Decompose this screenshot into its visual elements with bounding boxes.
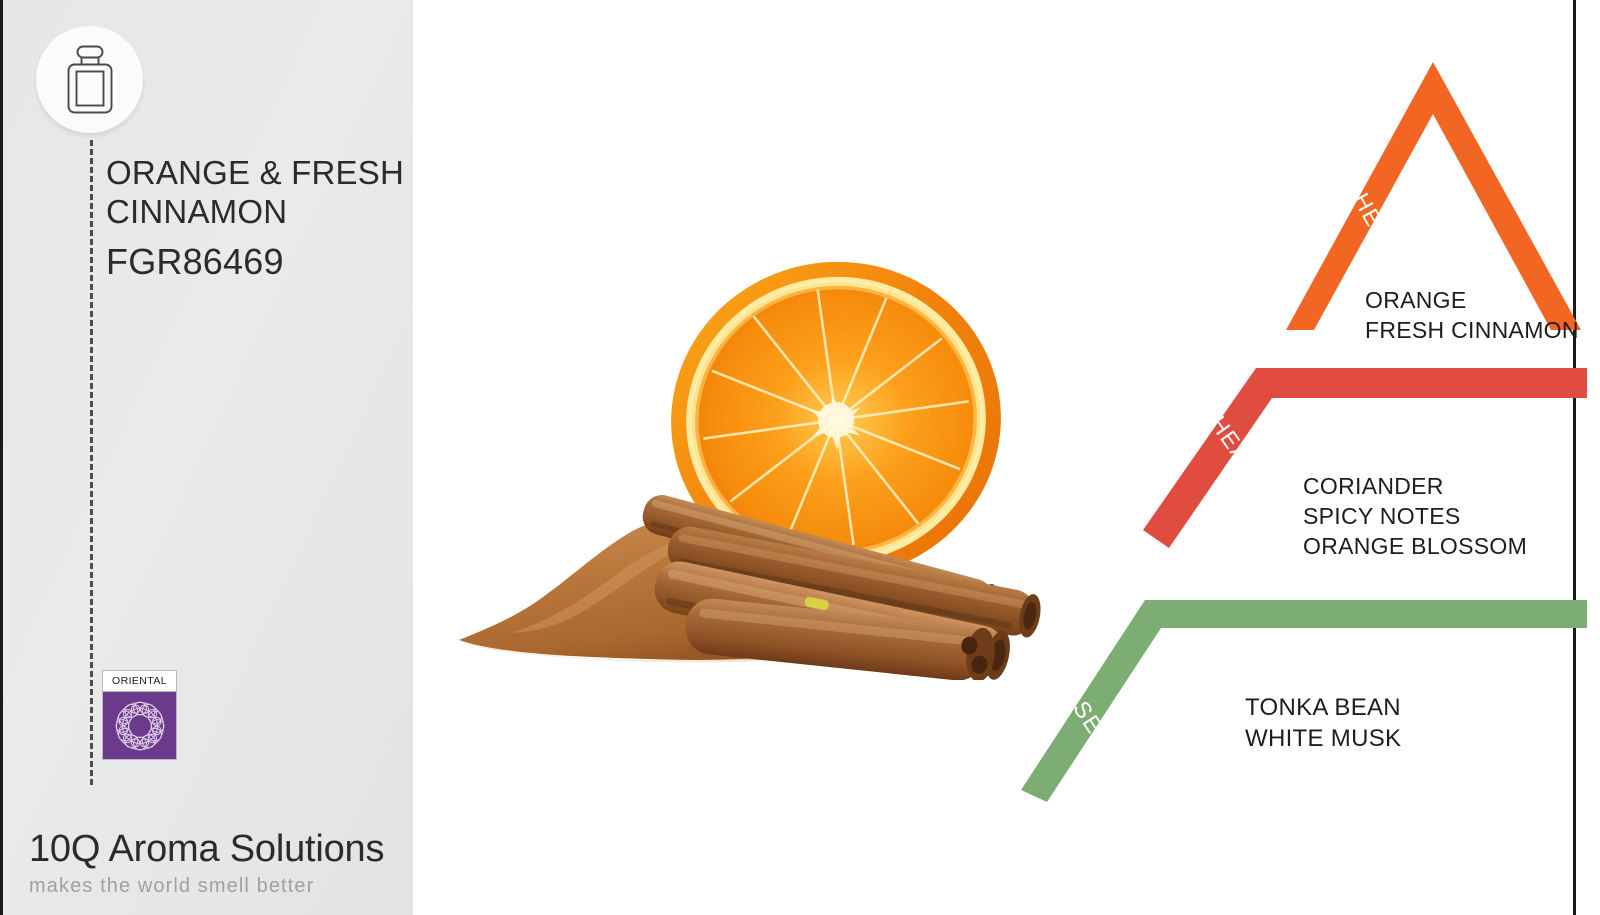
- brand-block: 10Q Aroma Solutions makes the world smel…: [29, 826, 409, 899]
- brand-tagline: makes the world smell better: [29, 873, 409, 899]
- heart-note: SPICY NOTES: [1303, 501, 1527, 531]
- base-notes-list: TONKA BEAN WHITE MUSK: [1245, 692, 1401, 754]
- heart-note: ORANGE BLOSSOM: [1303, 531, 1527, 561]
- heart-note: CORIANDER: [1303, 471, 1527, 501]
- sidebar-panel: ORANGE & FRESH CINNAMON FGR86469 ORIENTA…: [3, 0, 413, 915]
- sidebar-dashed-connector: [90, 140, 93, 785]
- fragrance-title-block: ORANGE & FRESH CINNAMON FGR86469: [106, 153, 406, 284]
- fragrance-family-badge: ORIENTAL: [102, 670, 177, 760]
- brand-name: 10Q Aroma Solutions: [29, 826, 409, 872]
- base-note: TONKA BEAN: [1245, 692, 1401, 723]
- spirograph-ring-icon: [103, 692, 176, 760]
- fragrance-code: FGR86469: [106, 240, 406, 284]
- perfume-bottle-icon: [59, 44, 121, 116]
- fragrance-title-line-2: CINNAMON: [106, 192, 406, 231]
- head-note: ORANGE: [1365, 285, 1579, 315]
- fragrance-family-label: ORIENTAL: [103, 671, 176, 692]
- perfume-bottle-badge: [36, 26, 143, 133]
- head-notes-list: ORANGE FRESH CINNAMON: [1365, 285, 1579, 345]
- product-photo: [451, 255, 1071, 680]
- fragrance-title-line-1: ORANGE & FRESH: [106, 153, 406, 192]
- base-note: WHITE MUSK: [1245, 723, 1401, 754]
- slide-canvas: ORANGE & FRESH CINNAMON FGR86469 ORIENTA…: [0, 0, 1600, 915]
- head-note: FRESH CINNAMON: [1365, 315, 1579, 345]
- heart-notes-list: CORIANDER SPICY NOTES ORANGE BLOSSOM: [1303, 471, 1527, 561]
